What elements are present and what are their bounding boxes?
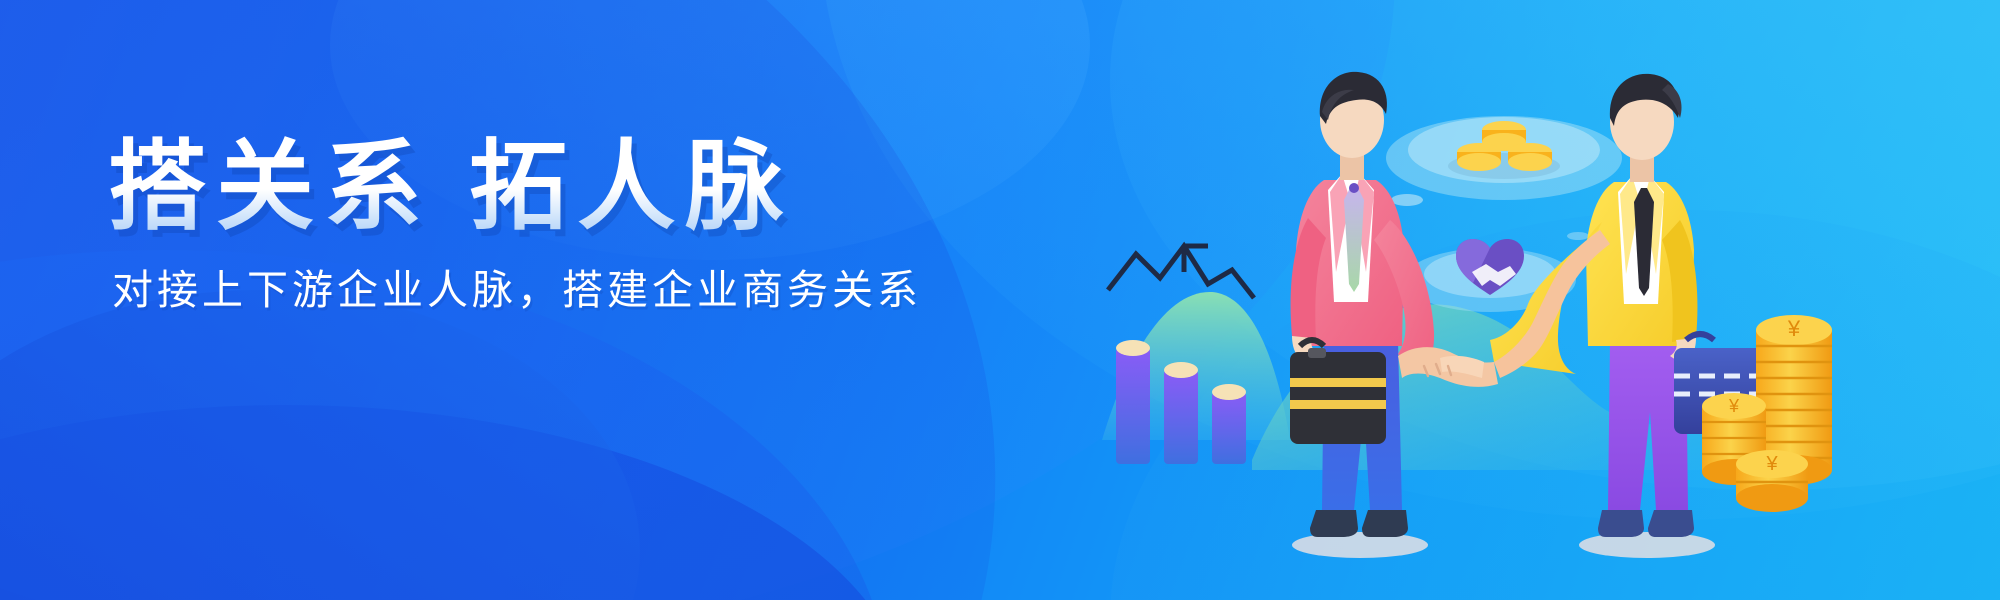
briefcase-left [1290,340,1386,444]
svg-text:¥: ¥ [1728,396,1740,416]
ground-shadow-left [1292,532,1428,558]
banner-headline: 搭关系 拓人脉 [108,132,922,242]
trend-line [1108,246,1254,298]
svg-text:¥: ¥ [1765,453,1778,475]
coin-stack-front: ¥ [1736,450,1808,512]
handshake-illustration: ¥ ¥ [1102,40,1982,600]
svg-text:¥: ¥ [1787,316,1801,341]
promo-banner: 搭关系 拓人脉 对接上下游企业人脉，搭建企业商务关系 [0,0,2000,600]
ground-shadow-right [1579,532,1715,558]
banner-subheadline: 对接上下游企业人脉，搭建企业商务关系 [112,266,922,315]
banner-copy: 搭关系 拓人脉 对接上下游企业人脉，搭建企业商务关系 [108,132,922,315]
